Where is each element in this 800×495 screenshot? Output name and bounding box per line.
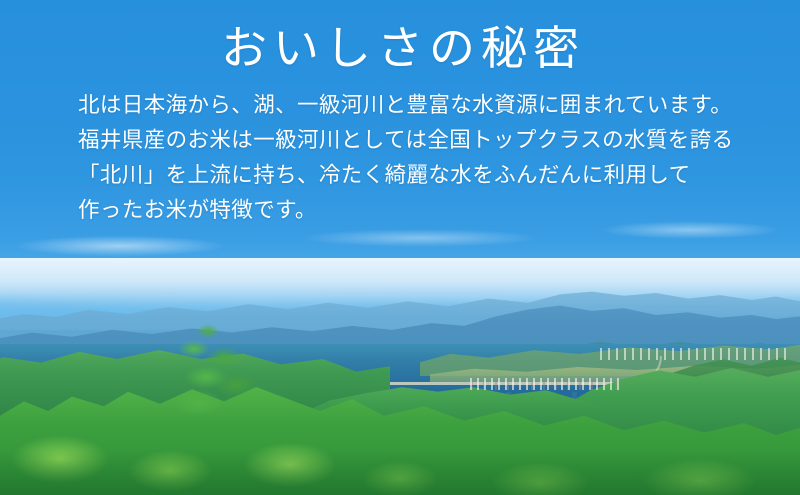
description-line-4: 作ったお米が特徴です。 [78,193,800,228]
page-title: おいしさの秘密 [0,0,800,74]
description-line-2: 福井県産のお米は一級河川としては全国トップクラスの水質を誇る [78,123,800,158]
hero-banner: おいしさの秘密 北は日本海から、湖、一級河川と豊富な水資源に囲まれています。 福… [0,0,800,495]
description-line-3: 「北川」を上流に持ち、冷たく綺麗な水をふんだんに利用して [78,158,800,193]
village-mid [470,378,620,390]
description-line-1: 北は日本海から、湖、一級河川と豊富な水資源に囲まれています。 [78,88,800,123]
hero-text-block: おいしさの秘密 北は日本海から、湖、一級河川と豊富な水資源に囲まれています。 福… [0,0,800,228]
village-far [600,348,790,360]
hero-description: 北は日本海から、湖、一級河川と豊富な水資源に囲まれています。 福井県産のお米は一… [0,88,800,228]
